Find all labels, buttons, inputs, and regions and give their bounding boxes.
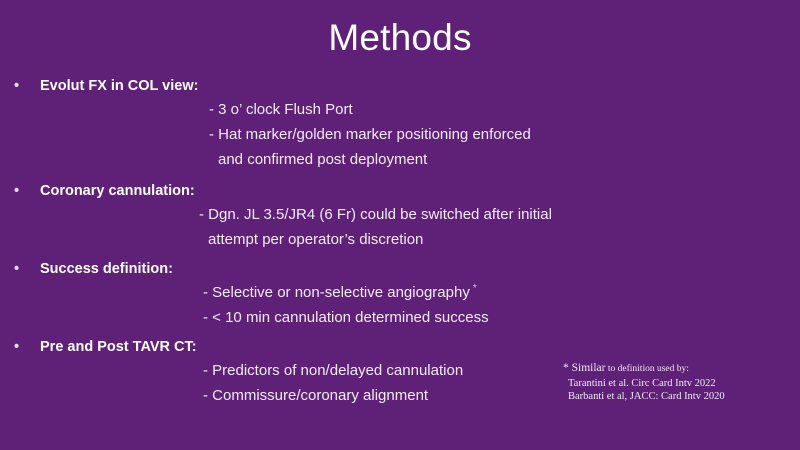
- footnote-marker: *: [470, 283, 477, 294]
- section-heading: • Evolut FX in COL view:: [0, 76, 800, 97]
- sub-line: and confirmed post deployment: [0, 147, 800, 172]
- footnote-lead: * Similar to definition used by:: [563, 362, 793, 377]
- footnote-marker-icon: *: [563, 362, 569, 374]
- footnote-block: * Similar to definition used by: Taranti…: [563, 362, 793, 404]
- slide-body: • Evolut FX in COL view: - 3 o’ clock Fl…: [0, 76, 800, 408]
- section-evolut-fx: • Evolut FX in COL view: - 3 o’ clock Fl…: [0, 76, 800, 172]
- section-heading-label: Evolut FX in COL view:: [40, 78, 198, 94]
- sub-line: - < 10 min cannulation determined succes…: [0, 305, 800, 330]
- section-heading-label: Success definition:: [40, 261, 173, 277]
- section-heading: • Coronary cannulation:: [0, 181, 800, 202]
- sub-line-text: - Selective or non-selective angiography: [203, 284, 470, 301]
- slide: Methods • Evolut FX in COL view: - 3 o’ …: [0, 0, 800, 450]
- page-title: Methods: [0, 18, 800, 59]
- footnote-citation: Tarantini et al. Circ Card Intv 2022: [563, 377, 793, 391]
- sub-line: - 3 o’ clock Flush Port: [0, 97, 800, 122]
- footnote-emphasis: Similar: [572, 362, 606, 374]
- section-heading: • Pre and Post TAVR CT:: [0, 337, 800, 358]
- section-success-definition: • Success definition: - Selective or non…: [0, 259, 800, 330]
- bullet-icon: •: [14, 337, 19, 358]
- section-heading-label: Pre and Post TAVR CT:: [40, 339, 197, 355]
- sub-line: - Hat marker/golden marker positioning e…: [0, 122, 800, 147]
- footnote-lead-rest: to definition used by:: [606, 364, 689, 374]
- bullet-icon: •: [14, 76, 19, 97]
- section-coronary-cannulation: • Coronary cannulation: - Dgn. JL 3.5/JR…: [0, 181, 800, 252]
- sub-line: - Selective or non-selective angiography…: [0, 280, 800, 305]
- section-heading-label: Coronary cannulation:: [40, 183, 195, 199]
- footnote-citation: Barbanti et al, JACC: Card Intv 2020: [563, 390, 793, 404]
- sub-line: attempt per operator’s discretion: [0, 227, 800, 252]
- sub-line: - Dgn. JL 3.5/JR4 (6 Fr) could be switch…: [0, 202, 800, 227]
- bullet-icon: •: [14, 259, 19, 280]
- section-heading: • Success definition:: [0, 259, 800, 280]
- bullet-icon: •: [14, 181, 19, 202]
